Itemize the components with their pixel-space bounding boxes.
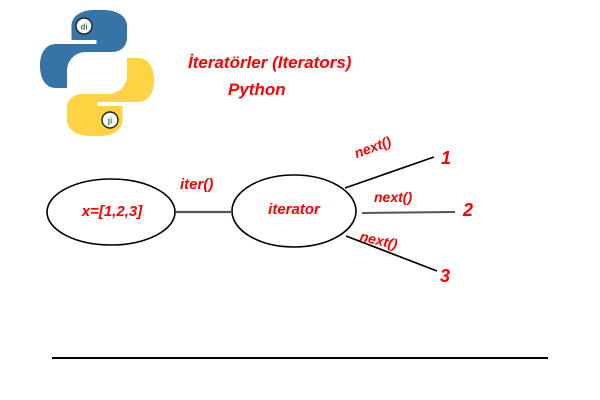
next-result-2: 2 (463, 200, 473, 221)
slide-canvas: di ji İteratörler (Iterators) Python x=[… (0, 0, 600, 400)
iter-edge-label: iter() (180, 176, 213, 193)
iterator-node-label: iterator (246, 201, 342, 218)
next-branch-line-1 (345, 157, 434, 188)
next-result-3: 3 (440, 266, 450, 287)
iterator-diagram (0, 0, 600, 400)
next-branch-line-2 (362, 212, 455, 213)
next-edge-label-2: next() (374, 189, 412, 205)
list-node-label: x=[1,2,3] (66, 203, 158, 220)
next-result-1: 1 (441, 148, 451, 169)
footer-divider (52, 357, 548, 359)
